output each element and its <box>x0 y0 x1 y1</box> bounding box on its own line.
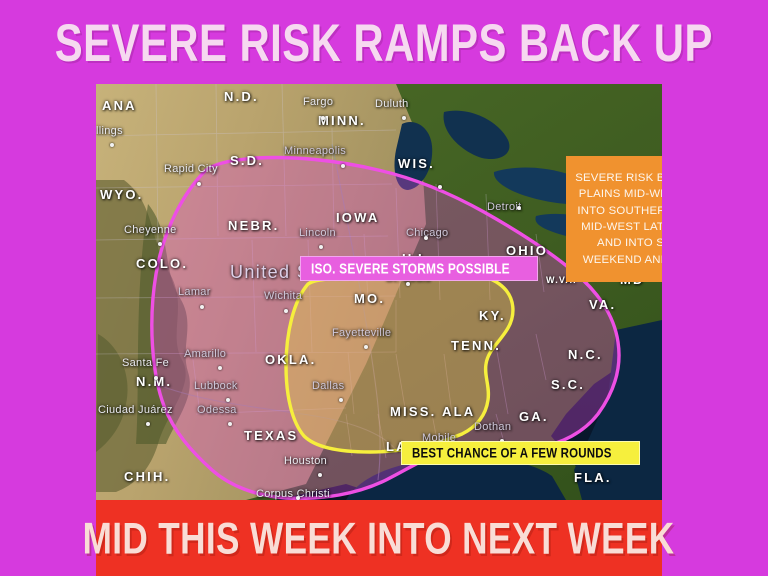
map-city-dot <box>406 282 410 286</box>
map-city-dot <box>402 116 406 120</box>
map-city-dot <box>341 164 345 168</box>
map-city-dot <box>517 206 521 210</box>
map-city-dot <box>319 245 323 249</box>
map-city-dot <box>438 185 442 189</box>
risk-label-best-chance[interactable]: BEST CHANCE OF A FEW ROUNDS <box>401 441 640 465</box>
map-city-dot <box>318 473 322 477</box>
risk-label-iso-severe[interactable]: ISO. SEVERE STORMS POSSIBLE <box>300 256 538 281</box>
risk-label-iso-severe-text: ISO. SEVERE STORMS POSSIBLE <box>311 260 510 277</box>
map-frame[interactable]: United States ANAN.D.MINN.S.D.WYO.WIS.NE… <box>96 84 662 500</box>
map-city-dot <box>110 143 114 147</box>
forecast-callout-text: SEVERE RISK BEGINS IN HIGH PLAINS MID-WE… <box>573 170 662 268</box>
map-city-dot <box>364 345 368 349</box>
map-city-dot <box>197 182 201 186</box>
map-canvas: United States ANAN.D.MINN.S.D.WYO.WIS.NE… <box>96 84 662 500</box>
title-banner: SEVERE RISK RAMPS BACK UP <box>0 0 768 84</box>
map-city-dot <box>200 305 204 309</box>
forecast-callout-box: SEVERE RISK BEGINS IN HIGH PLAINS MID-WE… <box>566 156 662 282</box>
timing-banner: MID THIS WEEK INTO NEXT WEEK <box>96 500 662 576</box>
page-title: SEVERE RISK RAMPS BACK UP <box>55 15 713 68</box>
map-city-dot <box>158 242 162 246</box>
weather-graphic: SEVERE RISK RAMPS BACK UP <box>0 0 768 576</box>
risk-area-best-chance[interactable] <box>96 84 662 500</box>
map-city-dot <box>146 422 150 426</box>
map-city-dot <box>228 422 232 426</box>
map-city-dot <box>321 116 325 120</box>
map-city-dot <box>284 309 288 313</box>
map-city-dot <box>154 376 158 380</box>
map-city-dot <box>226 398 230 402</box>
map-city-dot <box>339 398 343 402</box>
map-city-dot <box>424 236 428 240</box>
timing-banner-text: MID THIS WEEK INTO NEXT WEEK <box>83 516 675 560</box>
risk-label-best-chance-text: BEST CHANCE OF A FEW ROUNDS <box>412 445 612 461</box>
map-city-dot <box>218 366 222 370</box>
